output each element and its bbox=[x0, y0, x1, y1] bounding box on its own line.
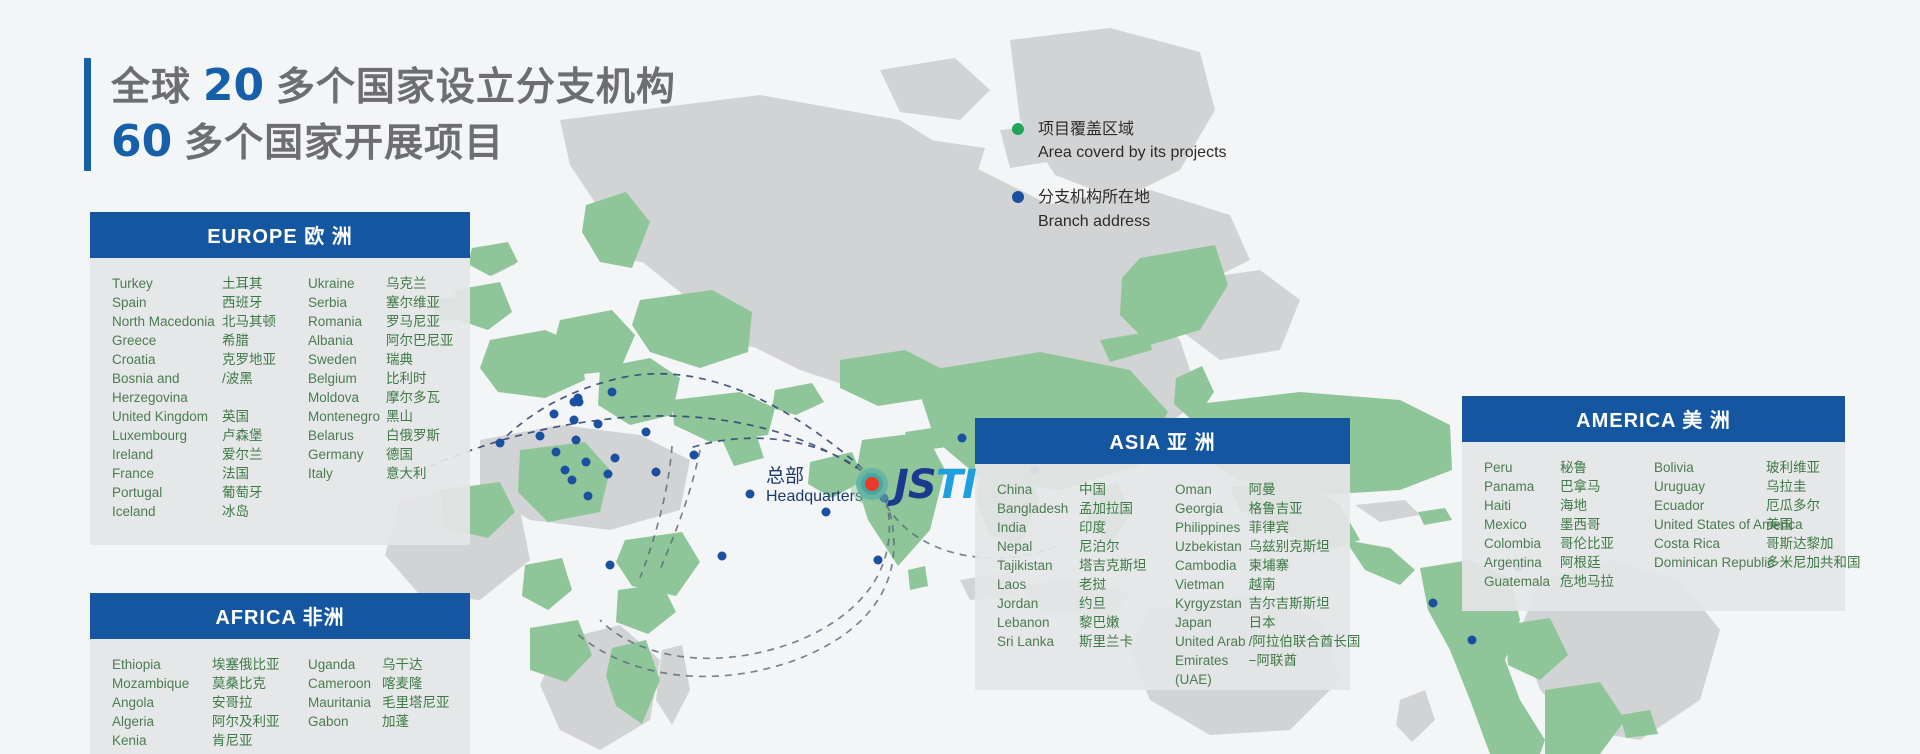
country-name-cn: 老挝 bbox=[1079, 575, 1175, 594]
country-cn-column-1: 埃塞俄比亚莫桑比克安哥拉阿尔及利亚肯尼亚 bbox=[212, 655, 308, 750]
country-name-column-1: ChinaBangladeshIndiaNepalTajikistanLaosJ… bbox=[997, 480, 1079, 670]
country-name: Bolivia bbox=[1654, 458, 1766, 477]
country-name-cn: 希腊 bbox=[222, 331, 308, 350]
country-name-cn: 秘鲁 bbox=[1560, 458, 1654, 477]
country-name: Kenia bbox=[112, 731, 212, 750]
country-name-column-1: PeruPanamaHaitiMexicoColombiaArgentinaGu… bbox=[1484, 458, 1560, 591]
map-legend: 项目覆盖区域Area coverd by its projects分支机构所在地… bbox=[1012, 118, 1227, 255]
country-name-cn: 哥伦比亚 bbox=[1560, 534, 1654, 553]
country-name-cn: 土耳其 bbox=[222, 274, 308, 293]
country-name: Nepal bbox=[997, 537, 1079, 556]
country-name: Guatemala bbox=[1484, 572, 1560, 591]
headline-line-1: 全球 20 多个国家设立分支机构 bbox=[111, 58, 676, 114]
country-name: Luxembourg bbox=[112, 426, 222, 445]
country-name-column-2: UkraineSerbiaRomaniaAlbaniaSwedenBelgium… bbox=[308, 274, 386, 521]
country-name-cn: 冰岛 bbox=[222, 502, 308, 521]
country-name-cn: 莫桑比克 bbox=[212, 674, 308, 693]
country-name: Oman bbox=[1175, 480, 1249, 499]
country-name-cn: 克罗地亚 bbox=[222, 350, 308, 369]
country-name: Uruguay bbox=[1654, 477, 1766, 496]
headquarters-label: 总部 Headquarters bbox=[766, 466, 863, 506]
legend-label-en: Branch address bbox=[1038, 210, 1227, 233]
country-name-cn: 印度 bbox=[1079, 518, 1175, 537]
green-dot-icon bbox=[1012, 123, 1024, 135]
country-name-cn: 约旦 bbox=[1079, 594, 1175, 613]
country-name: North Macedonia bbox=[112, 312, 222, 331]
country-name-cn: 阿尔及利亚 bbox=[212, 712, 308, 731]
country-name-cn: 尼泊尔 bbox=[1079, 537, 1175, 556]
panel-america[interactable]: AMERICA 美 洲PeruPanamaHaitiMexicoColombia… bbox=[1462, 396, 1845, 611]
country-name-cn: 北马其顿 bbox=[222, 312, 308, 331]
country-name: Portugal bbox=[112, 483, 222, 502]
country-name: Moldova bbox=[308, 388, 386, 407]
panel-europe[interactable]: EUROPE 欧 洲TurkeySpainNorth MacedoniaGree… bbox=[90, 212, 470, 545]
country-name-cn: 哥斯达黎加 bbox=[1766, 534, 1861, 553]
country-name: United Arab Emirates (UAE) bbox=[1175, 632, 1249, 670]
country-name-cn: 喀麦隆 bbox=[382, 674, 450, 693]
country-name-cn: 危地马拉 bbox=[1560, 572, 1654, 591]
country-name-cn: 海地 bbox=[1560, 496, 1654, 515]
country-name: Spain bbox=[112, 293, 222, 312]
panel-header-europe: EUROPE 欧 洲 bbox=[90, 212, 470, 258]
country-name-cn: 阿曼 bbox=[1249, 480, 1361, 499]
panel-africa[interactable]: AFRICA 非洲EthiopiaMozambiqueAngolaAlgeria… bbox=[90, 593, 470, 754]
country-name: Ireland bbox=[112, 445, 222, 464]
country-name-cn: 塞尔维亚 bbox=[386, 293, 454, 312]
country-name: Mozambique bbox=[112, 674, 212, 693]
country-name: Serbia bbox=[308, 293, 386, 312]
hq-label-cn: 总部 bbox=[766, 466, 863, 487]
panel-column-1: TurkeySpainNorth MacedoniaGreeceCroatiaB… bbox=[112, 274, 308, 521]
country-name: Uganda bbox=[308, 655, 382, 674]
country-name-cn: 柬埔寨 bbox=[1249, 556, 1361, 575]
country-name-cn: 乌干达 bbox=[382, 655, 450, 674]
headline-line1-suffix: 多个国家设立分支机构 bbox=[264, 66, 676, 109]
panel-column-2: BoliviaUruguayEcuadorUnited States of Am… bbox=[1654, 458, 1861, 591]
country-name-cn: 爱尔兰 bbox=[222, 445, 308, 464]
country-name-cn: 卢森堡 bbox=[222, 426, 308, 445]
country-name-cn: 英国 bbox=[222, 407, 308, 426]
country-name: Cameroon bbox=[308, 674, 382, 693]
country-name-cn: 摩尔多瓦 bbox=[386, 388, 454, 407]
country-name: Argentina bbox=[1484, 553, 1560, 572]
legend-label-cn: 分支机构所在地 bbox=[1038, 186, 1227, 209]
jsti-logo: JSTI bbox=[894, 465, 976, 505]
country-name: Tajikistan bbox=[997, 556, 1079, 575]
country-name: Bosnia and Herzegovina bbox=[112, 369, 222, 407]
country-name: Cambodia bbox=[1175, 556, 1249, 575]
country-name-cn: 葡萄牙 bbox=[222, 483, 308, 502]
country-name-cn: 肯尼亚 bbox=[212, 731, 308, 750]
jsti-logo-ti: TI bbox=[936, 462, 976, 508]
country-name: Belarus bbox=[308, 426, 386, 445]
country-name: Algeria bbox=[112, 712, 212, 731]
panel-column-2: UgandaCameroonMauritaniaGabon乌干达喀麦隆毛里塔尼亚… bbox=[308, 655, 450, 750]
legend-item-1: 项目覆盖区域Area coverd by its projects bbox=[1012, 118, 1227, 164]
headline-line-2: 60 多个国家开展项目 bbox=[111, 114, 676, 170]
country-name: Turkey bbox=[112, 274, 222, 293]
legend-label-cn: 项目覆盖区域 bbox=[1038, 118, 1227, 141]
panel-body-europe: TurkeySpainNorth MacedoniaGreeceCroatiaB… bbox=[90, 258, 470, 545]
country-name-cn: 日本 bbox=[1249, 613, 1361, 632]
country-cn-column-1: 中国孟加拉国印度尼泊尔塔吉克斯坦老挝约旦黎巴嫩斯里兰卡 bbox=[1079, 480, 1175, 670]
country-name: Albania bbox=[308, 331, 386, 350]
country-name: Kyrgyzstan bbox=[1175, 594, 1249, 613]
country-name: Laos bbox=[997, 575, 1079, 594]
country-cn-column-2: 乌干达喀麦隆毛里塔尼亚加蓬 bbox=[382, 655, 450, 750]
country-name: Mexico bbox=[1484, 515, 1560, 534]
country-name-cn: 法国 bbox=[222, 464, 308, 483]
headquarters-marker-icon bbox=[850, 462, 894, 506]
country-name-cn: 越南 bbox=[1249, 575, 1361, 594]
country-name: Croatia bbox=[112, 350, 222, 369]
country-name-cn: 埃塞俄比亚 bbox=[212, 655, 308, 674]
country-name: Lebanon bbox=[997, 613, 1079, 632]
panel-body-africa: EthiopiaMozambiqueAngolaAlgeriaKenia埃塞俄比… bbox=[90, 639, 470, 754]
country-name: China bbox=[997, 480, 1079, 499]
country-name-cn: 瑞典 bbox=[386, 350, 454, 369]
country-name-cn: 加蓬 bbox=[382, 712, 450, 731]
country-name: Vietman bbox=[1175, 575, 1249, 594]
country-name: Sri Lanka bbox=[997, 632, 1079, 651]
country-name: Mauritania bbox=[308, 693, 382, 712]
country-name-cn: 意大利 bbox=[386, 464, 454, 483]
country-name-cn: /波黑 bbox=[222, 369, 308, 407]
country-name-cn: 厄瓜多尔 bbox=[1766, 496, 1861, 515]
country-name-cn: 安哥拉 bbox=[212, 693, 308, 712]
country-name-cn: 白俄罗斯 bbox=[386, 426, 454, 445]
headline-accent-bar bbox=[84, 58, 91, 171]
country-name: Greece bbox=[112, 331, 222, 350]
country-cn-column-2: 乌克兰塞尔维亚罗马尼亚阿尔巴尼亚瑞典比利时摩尔多瓦黑山白俄罗斯德国意大利 bbox=[386, 274, 454, 521]
country-name-cn: 黑山 bbox=[386, 407, 454, 426]
country-name: Colombia bbox=[1484, 534, 1560, 553]
headline-number-60: 60 bbox=[111, 116, 172, 167]
country-name-cn: 墨西哥 bbox=[1560, 515, 1654, 534]
country-name-cn: 孟加拉国 bbox=[1079, 499, 1175, 518]
country-name: Angola bbox=[112, 693, 212, 712]
country-name-cn: 斯里兰卡 bbox=[1079, 632, 1175, 651]
country-name-cn: 乌拉圭 bbox=[1766, 477, 1861, 496]
panel-header-america: AMERICA 美 洲 bbox=[1462, 396, 1845, 442]
country-name-cn: 吉尔吉斯斯坦 bbox=[1249, 594, 1361, 613]
country-name-cn: 中国 bbox=[1079, 480, 1175, 499]
country-name: Germany bbox=[308, 445, 386, 464]
country-name-cn: 格鲁吉亚 bbox=[1249, 499, 1361, 518]
country-name: United States of America bbox=[1654, 515, 1766, 534]
jsti-logo-js: JS bbox=[894, 462, 936, 508]
panel-column-2: OmanGeorgiaPhilippinesUzbekistanCambodia… bbox=[1175, 480, 1361, 670]
country-name: Haiti bbox=[1484, 496, 1560, 515]
country-name: Romania bbox=[308, 312, 386, 331]
country-name-column-2: OmanGeorgiaPhilippinesUzbekistanCambodia… bbox=[1175, 480, 1249, 670]
country-cn-column-2: 玻利维亚乌拉圭厄瓜多尔美国哥斯达黎加多米尼加共和国 bbox=[1766, 458, 1861, 591]
headline-line1-prefix: 全球 bbox=[111, 66, 203, 109]
panel-header-asia: ASIA 亚 洲 bbox=[975, 418, 1350, 464]
country-name: Japan bbox=[1175, 613, 1249, 632]
country-name-cn: 阿尔巴尼亚 bbox=[386, 331, 454, 350]
country-name-cn: 巴拿马 bbox=[1560, 477, 1654, 496]
country-name: Italy bbox=[308, 464, 386, 483]
country-name: Georgia bbox=[1175, 499, 1249, 518]
country-name-cn: 美国 bbox=[1766, 515, 1861, 534]
country-name: United Kingdom bbox=[112, 407, 222, 426]
country-name-cn: 塔吉克斯坦 bbox=[1079, 556, 1175, 575]
panel-body-america: PeruPanamaHaitiMexicoColombiaArgentinaGu… bbox=[1462, 442, 1845, 611]
panel-column-1: PeruPanamaHaitiMexicoColombiaArgentinaGu… bbox=[1484, 458, 1654, 591]
panel-column-1: EthiopiaMozambiqueAngolaAlgeriaKenia埃塞俄比… bbox=[112, 655, 308, 750]
country-name: Jordan bbox=[997, 594, 1079, 613]
country-name-column-1: EthiopiaMozambiqueAngolaAlgeriaKenia bbox=[112, 655, 212, 750]
country-name-cn: 毛里塔尼亚 bbox=[382, 693, 450, 712]
country-name-column-2: UgandaCameroonMauritaniaGabon bbox=[308, 655, 382, 750]
legend-item-2: 分支机构所在地Branch address bbox=[1012, 186, 1227, 232]
country-name-column-1: TurkeySpainNorth MacedoniaGreeceCroatiaB… bbox=[112, 274, 222, 521]
panel-column-1: ChinaBangladeshIndiaNepalTajikistanLaosJ… bbox=[997, 480, 1175, 670]
country-name: Gabon bbox=[308, 712, 382, 731]
headline-line2-suffix: 多个国家开展项目 bbox=[172, 122, 504, 165]
country-name: France bbox=[112, 464, 222, 483]
country-name: Ethiopia bbox=[112, 655, 212, 674]
panel-body-asia: ChinaBangladeshIndiaNepalTajikistanLaosJ… bbox=[975, 464, 1350, 690]
country-name-cn: 西班牙 bbox=[222, 293, 308, 312]
country-name: Panama bbox=[1484, 477, 1560, 496]
country-name-cn: 乌克兰 bbox=[386, 274, 454, 293]
legend-label-en: Area coverd by its projects bbox=[1038, 141, 1227, 164]
country-name-cn: 德国 bbox=[386, 445, 454, 464]
country-name: Iceland bbox=[112, 502, 222, 521]
country-name-cn: 比利时 bbox=[386, 369, 454, 388]
country-name: Uzbekistan bbox=[1175, 537, 1249, 556]
country-name: Belgium bbox=[308, 369, 386, 388]
country-name: Peru bbox=[1484, 458, 1560, 477]
country-name-cn: 黎巴嫩 bbox=[1079, 613, 1175, 632]
hq-label-en: Headquarters bbox=[766, 487, 863, 506]
country-name: Bangladesh bbox=[997, 499, 1079, 518]
country-cn-column-1: 秘鲁巴拿马海地墨西哥哥伦比亚阿根廷危地马拉 bbox=[1560, 458, 1654, 591]
country-name-cn: 菲律宾 bbox=[1249, 518, 1361, 537]
country-cn-column-2: 阿曼格鲁吉亚菲律宾乌兹别克斯坦柬埔寨越南吉尔吉斯斯坦日本/阿拉伯联合酋长国−阿联… bbox=[1249, 480, 1361, 670]
country-name: India bbox=[997, 518, 1079, 537]
country-name: Ecuador bbox=[1654, 496, 1766, 515]
panel-header-africa: AFRICA 非洲 bbox=[90, 593, 470, 639]
headline-number-20: 20 bbox=[203, 60, 264, 111]
page-headline: 全球 20 多个国家设立分支机构 60 多个国家开展项目 bbox=[84, 58, 676, 171]
panel-asia[interactable]: ASIA 亚 洲ChinaBangladeshIndiaNepalTajikis… bbox=[975, 418, 1350, 690]
country-name-cn: 罗马尼亚 bbox=[386, 312, 454, 331]
country-name: Ukraine bbox=[308, 274, 386, 293]
country-name-cn: /阿拉伯联合酋长国−阿联酋 bbox=[1249, 632, 1361, 670]
panel-column-2: UkraineSerbiaRomaniaAlbaniaSwedenBelgium… bbox=[308, 274, 454, 521]
country-name: Philippines bbox=[1175, 518, 1249, 537]
blue-dot-icon bbox=[1012, 191, 1024, 203]
country-name-cn: 玻利维亚 bbox=[1766, 458, 1861, 477]
country-name-cn: 阿根廷 bbox=[1560, 553, 1654, 572]
country-name-cn: 多米尼加共和国 bbox=[1766, 553, 1861, 572]
country-cn-column-1: 土耳其西班牙北马其顿希腊克罗地亚/波黑英国卢森堡爱尔兰法国葡萄牙冰岛 bbox=[222, 274, 308, 521]
country-name-cn: 乌兹别克斯坦 bbox=[1249, 537, 1361, 556]
country-name-column-2: BoliviaUruguayEcuadorUnited States of Am… bbox=[1654, 458, 1766, 591]
country-name: Montenegro bbox=[308, 407, 386, 426]
country-name: Costa Rica bbox=[1654, 534, 1766, 553]
country-name: Dominican Republic bbox=[1654, 553, 1766, 572]
country-name: Sweden bbox=[308, 350, 386, 369]
